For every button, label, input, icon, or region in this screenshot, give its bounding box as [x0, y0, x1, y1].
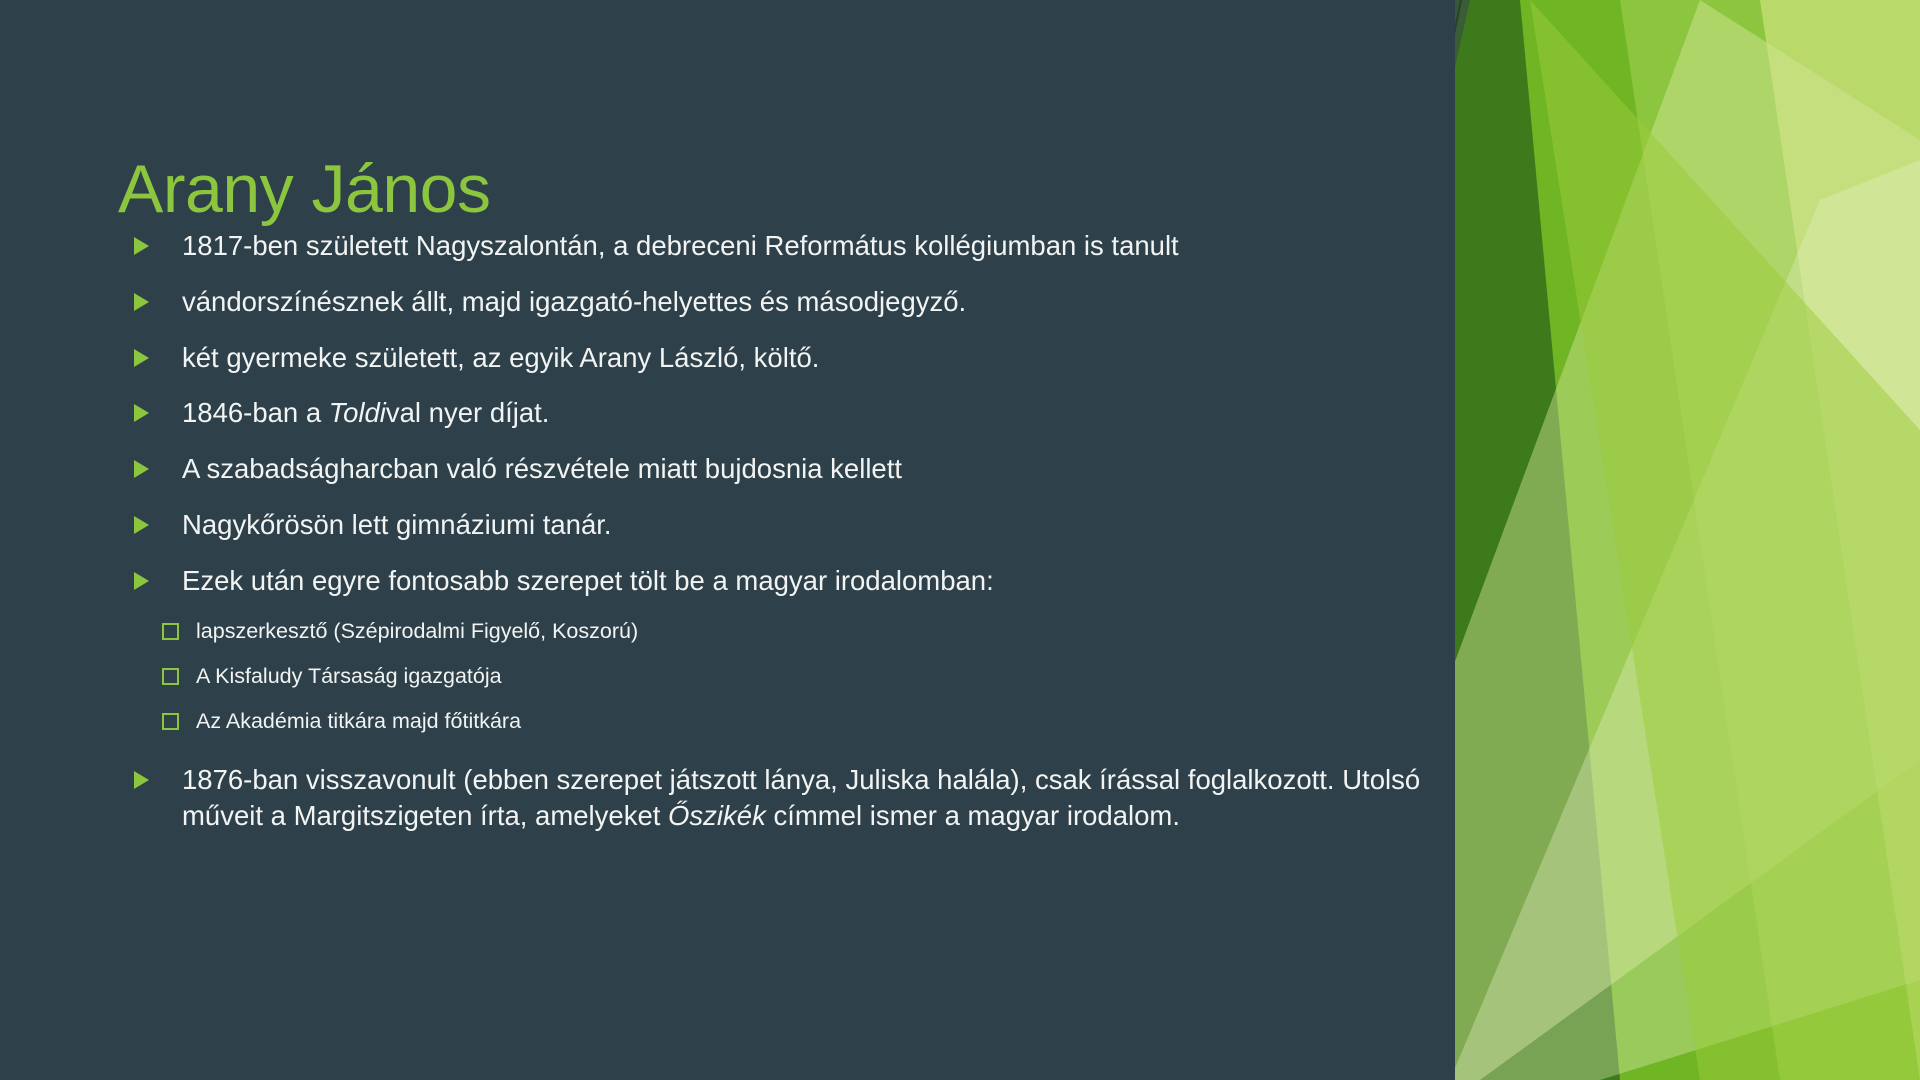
bullet-text: 1817-ben született Nagyszalontán, a debr… [182, 230, 1179, 261]
decor-overlay-c [1530, 0, 1920, 1080]
bullet-text-italic: Őszikék [668, 800, 766, 831]
square-bullet-icon [162, 623, 179, 640]
sub-bullet-text: Az Akadémia titkára majd főtitkára [196, 709, 521, 733]
bullet-text-after: címmel ismer a magyar irodalom. [766, 800, 1180, 831]
bullet-item: 1846-ban a Toldival nyer díjat. [118, 395, 1428, 431]
slide-title: Arany János [118, 154, 490, 225]
bullet-text: vándorszínésznek állt, majd igazgató-hel… [182, 286, 966, 317]
bullet-text-before: 1846-ban a [182, 397, 329, 428]
triangle-bullet-icon [134, 237, 149, 255]
triangle-bullet-icon [134, 293, 149, 311]
bullet-item: vándorszínésznek állt, majd igazgató-hel… [118, 284, 1428, 320]
sub-bullet-list: lapszerkesztő (Szépirodalmi Figyelő, Kos… [118, 618, 1428, 736]
sub-bullet-text: A Kisfaludy Társaság igazgatója [196, 664, 502, 688]
triangle-bullet-icon [134, 572, 149, 590]
sub-bullet-item: Az Akadémia titkára majd főtitkára [118, 708, 1428, 736]
presentation-slide: Arany János 1817-ben született Nagyszalo… [0, 0, 1920, 1080]
sub-bullet-item: A Kisfaludy Társaság igazgatója [118, 663, 1428, 691]
bullet-item: Ezek után egyre fontosabb szerepet tölt … [118, 563, 1428, 599]
bullet-text: két gyermeke született, az egyik Arany L… [182, 342, 819, 373]
bullet-item: A szabadságharcban való részvétele miatt… [118, 451, 1428, 487]
triangle-bullet-icon [134, 349, 149, 367]
bullet-item: 1817-ben született Nagyszalontán, a debr… [118, 228, 1428, 264]
triangle-bullet-icon [134, 404, 149, 422]
sub-bullet-text: lapszerkesztő (Szépirodalmi Figyelő, Kos… [196, 619, 638, 643]
bullet-item: Nagykőrösön lett gimnáziumi tanár. [118, 507, 1428, 543]
bullet-item: két gyermeke született, az egyik Arany L… [118, 340, 1428, 376]
bullet-text-italic: Toldi [329, 397, 386, 428]
bullet-list: 1817-ben született Nagyszalontán, a debr… [118, 228, 1428, 835]
decor-overlay-b [1450, 160, 1920, 1080]
bullet-text: Ezek után egyre fontosabb szerepet tölt … [182, 565, 994, 596]
bullet-text: A szabadságharcban való részvétele miatt… [182, 453, 902, 484]
square-bullet-icon [162, 713, 179, 730]
square-bullet-icon [162, 668, 179, 685]
bullet-text-after: val nyer díjat. [386, 397, 550, 428]
triangle-bullet-icon [134, 516, 149, 534]
triangle-bullet-icon [134, 460, 149, 478]
sub-bullet-item: lapszerkesztő (Szépirodalmi Figyelő, Kos… [118, 618, 1428, 646]
slide-content: Arany János 1817-ben született Nagyszalo… [0, 0, 1455, 1080]
bullet-text: Nagykőrösön lett gimnáziumi tanár. [182, 509, 612, 540]
triangle-bullet-icon [134, 771, 149, 789]
bullet-item-final: 1876-ban visszavonult (ebben szerepet já… [118, 762, 1428, 835]
